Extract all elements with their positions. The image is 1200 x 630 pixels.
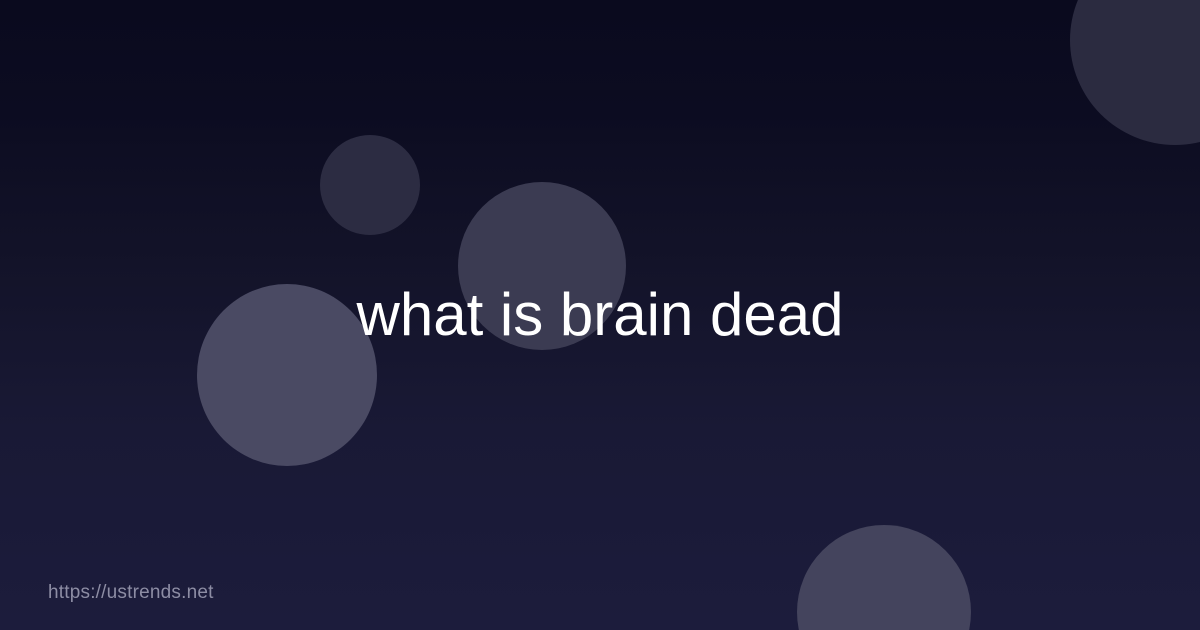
site-url-label: https://ustrends.net: [48, 582, 214, 604]
title-container: what is brain dead: [0, 0, 1200, 630]
social-preview-card: what is brain dead https://ustrends.net: [0, 0, 1200, 630]
page-title: what is brain dead: [317, 282, 884, 348]
